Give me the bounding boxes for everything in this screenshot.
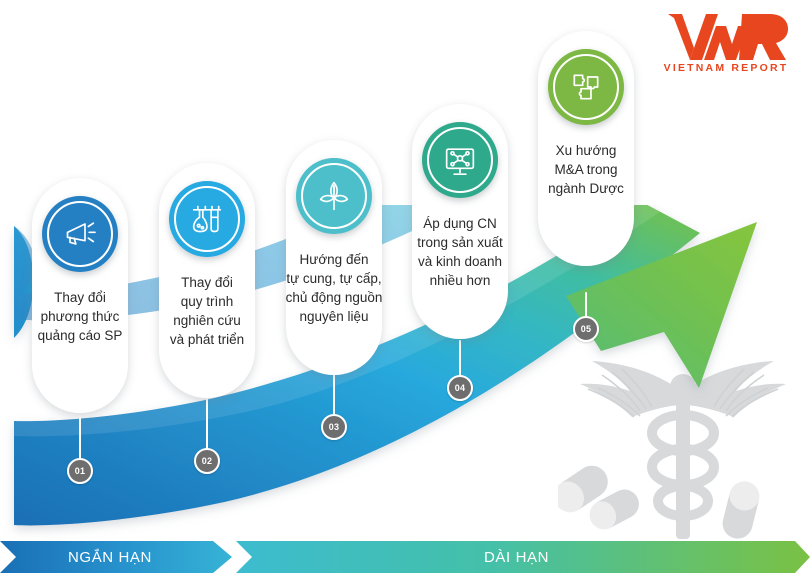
- step-marker-01-label: 01: [75, 466, 86, 476]
- connector-stem-04: [459, 340, 461, 377]
- step-card-02-text: Thay đổi quy trình nghiên cứu và phát tr…: [143, 273, 271, 350]
- step-card-04-line-2: trong sản xuất: [396, 233, 524, 252]
- infographic-canvas: 01 02 03 04 05 Thay đổi phương thức quản…: [0, 0, 810, 573]
- step-card-05-line-2: M&A trong: [522, 160, 650, 179]
- connector-stem-01: [79, 412, 81, 460]
- step-card-04-line-4: nhiều hơn: [396, 271, 524, 290]
- lab-flask-icon: [174, 186, 240, 252]
- step-card-02-line-2: quy trình: [143, 292, 271, 311]
- step-card-03-line-1: Hướng đến: [270, 250, 398, 269]
- step-card-05-line-1: Xu hướng: [522, 141, 650, 160]
- step-card-03-line-3: chủ động nguồn: [270, 288, 398, 307]
- step-marker-05-label: 05: [581, 324, 592, 334]
- step-card-04-line-1: Áp dụng CN: [396, 214, 524, 233]
- timeline-long-term-label: DÀI HẠN: [484, 549, 549, 566]
- plant-leaf-icon: [301, 163, 367, 229]
- step-icon-wrap-01: [42, 196, 118, 272]
- step-card-01-text: Thay đổi phương thức quảng cáo SP: [16, 288, 144, 345]
- connector-stem-05: [585, 292, 587, 317]
- connector-stem-02: [206, 396, 208, 449]
- svg-text:VIETNAM REPORT: VIETNAM REPORT: [664, 62, 789, 74]
- step-card-04-text: Áp dụng CN trong sản xuất và kinh doanh …: [396, 214, 524, 291]
- step-card-02-line-4: và phát triển: [143, 330, 271, 349]
- step-card-02-line-3: nghiên cứu: [143, 311, 271, 330]
- step-marker-05[interactable]: 05: [573, 316, 599, 342]
- timeline-short-term-label: NGẮN HẠN: [68, 549, 152, 566]
- connector-stem-03: [333, 372, 335, 416]
- step-icon-wrap-02: [169, 181, 245, 257]
- step-card-01-line-2: phương thức: [16, 307, 144, 326]
- step-card-03-line-4: nguyên liệu: [270, 307, 398, 326]
- step-card-03-text: Hướng đến tự cung, tự cấp, chủ động nguồ…: [270, 250, 398, 327]
- puzzle-pieces-icon: [553, 54, 619, 120]
- monitor-network-icon: [427, 127, 493, 193]
- step-marker-04[interactable]: 04: [447, 375, 473, 401]
- step-marker-03-label: 03: [329, 422, 340, 432]
- step-card-03[interactable]: Hướng đến tự cung, tự cấp, chủ động nguồ…: [286, 140, 382, 375]
- step-marker-03[interactable]: 03: [321, 414, 347, 440]
- step-card-02-line-1: Thay đổi: [143, 273, 271, 292]
- megaphone-icon: [47, 201, 113, 267]
- step-card-01[interactable]: Thay đổi phương thức quảng cáo SP: [32, 178, 128, 413]
- step-marker-02-label: 02: [202, 456, 213, 466]
- step-marker-04-label: 04: [455, 383, 466, 393]
- step-card-02[interactable]: Thay đổi quy trình nghiên cứu và phát tr…: [159, 163, 255, 398]
- step-marker-02[interactable]: 02: [194, 448, 220, 474]
- step-card-04[interactable]: Áp dụng CN trong sản xuất và kinh doanh …: [412, 104, 508, 339]
- step-card-05[interactable]: Xu hướng M&A trong ngành Dược: [538, 31, 634, 266]
- step-marker-01[interactable]: 01: [67, 458, 93, 484]
- step-icon-wrap-03: [296, 158, 372, 234]
- step-card-01-line-1: Thay đổi: [16, 288, 144, 307]
- step-card-03-line-2: tự cung, tự cấp,: [270, 269, 398, 288]
- step-card-04-line-3: và kinh doanh: [396, 252, 524, 271]
- step-card-05-text: Xu hướng M&A trong ngành Dược: [522, 141, 650, 198]
- vietnam-report-logo[interactable]: VIETNAM REPORT: [660, 8, 792, 74]
- step-card-05-line-3: ngành Dược: [522, 179, 650, 198]
- step-icon-wrap-04: [422, 122, 498, 198]
- step-card-01-line-3: quảng cáo SP: [16, 326, 144, 345]
- step-icon-wrap-05: [548, 49, 624, 125]
